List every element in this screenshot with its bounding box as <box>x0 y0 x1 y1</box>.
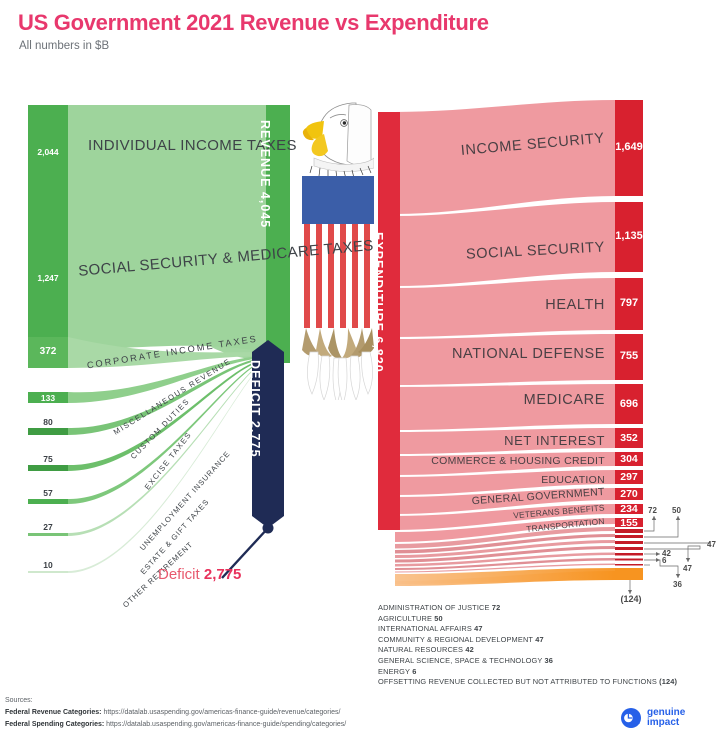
revenue-value-unemployment-insurance: 57 <box>28 488 68 498</box>
legend-row-community-regional-development: COMMUNITY & REGIONAL DEVELOPMENT 47 <box>378 635 708 646</box>
revenue-value-excise-taxes: 75 <box>28 454 68 464</box>
revenue-source-stubs <box>28 105 68 573</box>
source-url-revenue[interactable]: https://datalab.usaspending.gov/americas… <box>103 709 340 716</box>
deficit-callout-value: 2,775 <box>204 566 242 583</box>
infographic-canvas: US Government 2021 Revenue vs Expenditur… <box>0 0 720 743</box>
small-expenditures-legend: ADMINISTRATION OF JUSTICE 72 AGRICULTURE… <box>378 603 708 688</box>
expenditure-value-general-government: 270 <box>615 488 643 500</box>
expenditure-value-health: 797 <box>615 297 643 309</box>
expenditure-flow-label-health: HEALTH <box>430 297 605 313</box>
deficit-callout-word: Deficit <box>158 566 200 583</box>
callout-value-administration-of-justice: 72 <box>648 506 657 515</box>
expenditure-value-income-security: 1,649 <box>615 141 643 153</box>
expenditure-flow-label-medicare: MEDICARE <box>430 392 605 408</box>
expenditure-flow-label-net-interest: NET INTEREST <box>430 433 605 448</box>
expenditure-value-social-security: 1,135 <box>615 230 643 242</box>
source-row-spending: Federal Spending Categories: https://dat… <box>5 721 346 728</box>
expenditure-node-label: EXPENDITURE 6,820 <box>371 232 385 373</box>
deficit-callout: Deficit 2,775 <box>158 566 241 583</box>
source-label-spending: Federal Spending Categories: <box>5 721 104 728</box>
callout-value-general-science-space-technology: 36 <box>673 580 682 589</box>
revenue-value-miscellaneous-revenue: 133 <box>28 393 68 403</box>
legend-row-agriculture: AGRICULTURE 50 <box>378 614 708 625</box>
source-url-spending[interactable]: https://datalab.usaspending.gov/americas… <box>106 721 346 728</box>
expenditure-value-veterans-benefits: 234 <box>615 503 643 515</box>
revenue-value-social-security-medicare-taxes: 1,247 <box>28 273 68 283</box>
genuine-impact-logo: genuine impact <box>620 707 685 729</box>
revenue-value-custom-duties: 80 <box>28 417 68 427</box>
expenditure-value-national-defense: 755 <box>615 350 643 362</box>
expenditure-flow-label-commerce-housing-credit: COMMERCE & HOUSING CREDIT <box>418 455 605 467</box>
callout-value-energy: 6 <box>662 556 666 565</box>
revenue-value-other-retirement: 10 <box>28 560 68 570</box>
legend-row-general-science-space-technology: GENERAL SCIENCE, SPACE & TECHNOLOGY 36 <box>378 656 708 667</box>
revenue-node-label: REVENUE 4,045 <box>258 120 272 228</box>
revenue-flow-label-individual-income-taxes: INDIVIDUAL INCOME TAXES <box>88 137 258 155</box>
sources-heading: Sources: <box>5 697 33 704</box>
expenditure-value-net-interest: 352 <box>615 432 643 444</box>
expenditure-value-transportation: 155 <box>615 517 643 529</box>
revenue-value-corporate-income-taxes: 372 <box>28 346 68 357</box>
legend-row-energy: ENERGY 6 <box>378 667 708 678</box>
logo-line-2: impact <box>647 718 685 729</box>
callout-value-community-regional-development: 47 <box>683 564 692 573</box>
alpha-mark-icon <box>620 707 642 729</box>
expenditure-value-commerce-housing-credit: 304 <box>615 453 643 465</box>
legend-row-natural-resources: NATURAL RESOURCES 42 <box>378 645 708 656</box>
legend-row-offsetting-revenue: OFFSETTING REVENUE COLLECTED BUT NOT ATT… <box>378 677 708 688</box>
expenditure-flow-label-national-defense: NATIONAL DEFENSE <box>430 346 605 362</box>
source-row-revenue: Federal Revenue Categories: https://data… <box>5 709 340 716</box>
deficit-node-label: DEFICIT 2,775 <box>248 360 262 458</box>
source-label-revenue: Federal Revenue Categories: <box>5 709 101 716</box>
expenditure-value-education: 297 <box>615 471 643 483</box>
expenditure-flow-label-education: EDUCATION <box>430 474 605 486</box>
legend-row-international-affairs: INTERNATIONAL AFFAIRS 47 <box>378 624 708 635</box>
callout-value-international-affairs: 47 <box>707 540 716 549</box>
expenditure-value-medicare: 696 <box>615 398 643 410</box>
legend-row-administration-of-justice: ADMINISTRATION OF JUSTICE 72 <box>378 603 708 614</box>
revenue-value-estate-gift-taxes: 27 <box>28 522 68 532</box>
callout-value-agriculture: 50 <box>672 506 681 515</box>
revenue-value-individual-income-taxes: 2,044 <box>28 147 68 157</box>
